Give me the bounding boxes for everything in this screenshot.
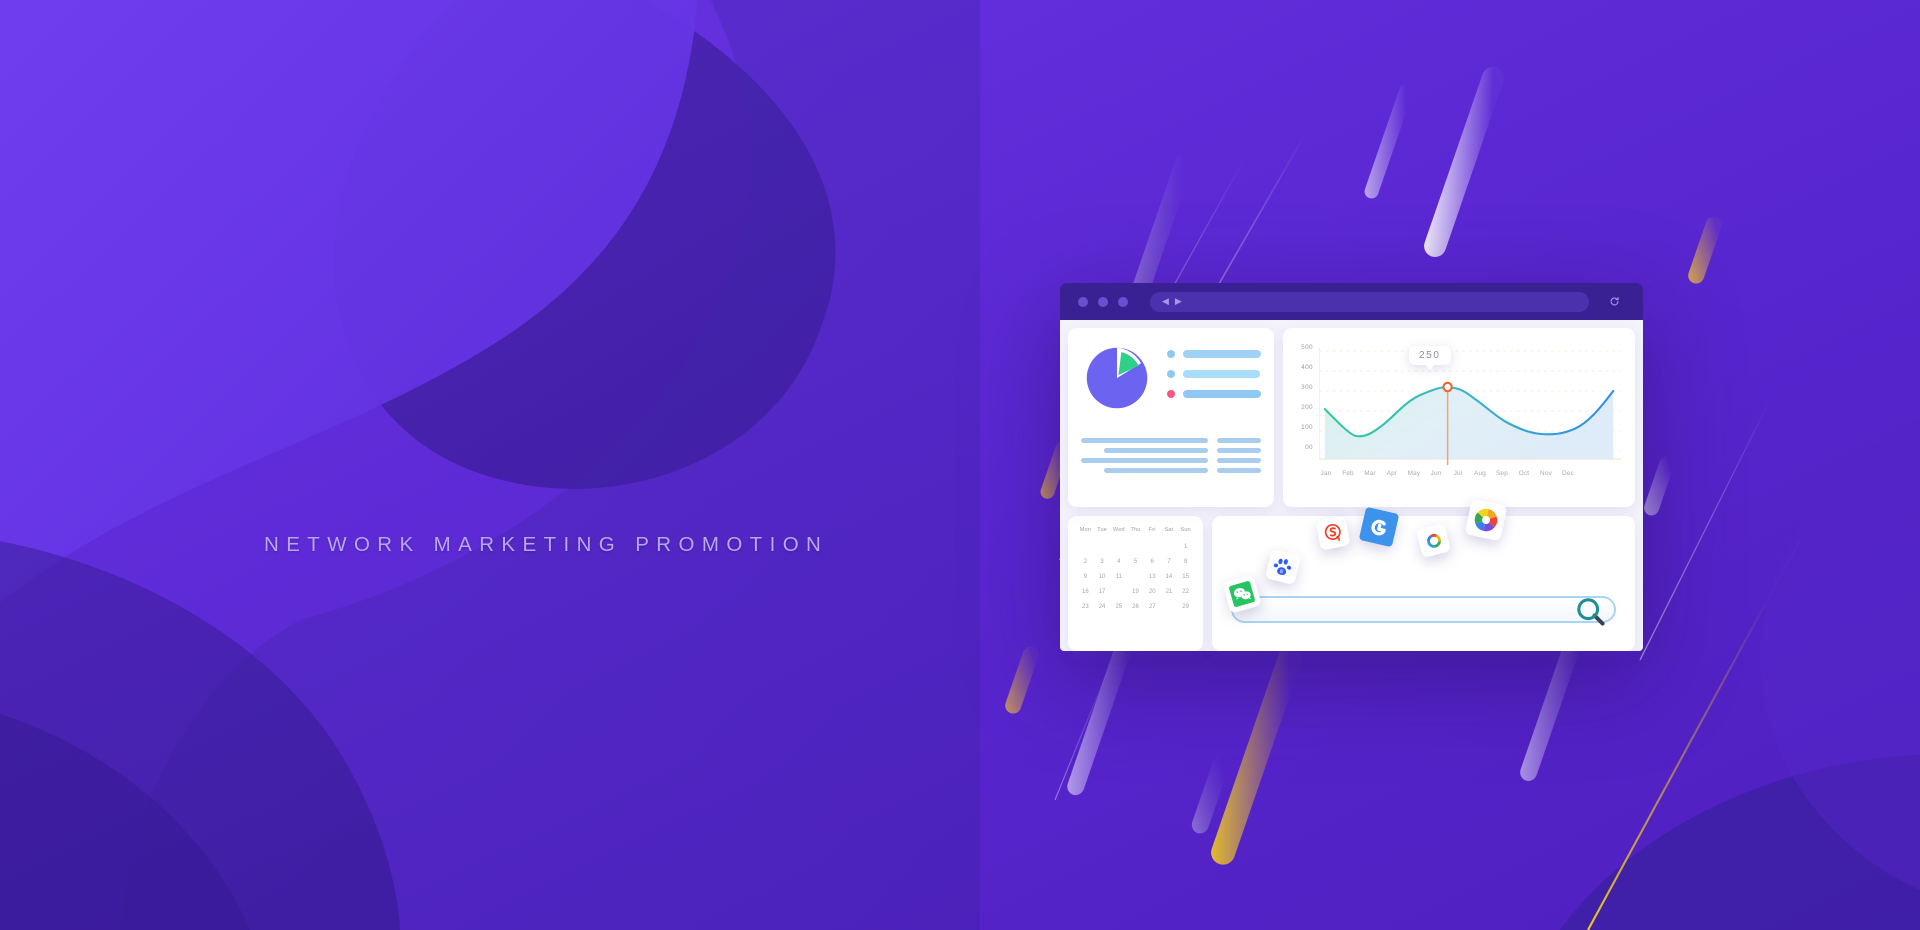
list-item	[1167, 370, 1261, 378]
calendar-day-label: 21	[1166, 589, 1173, 595]
baidu-paw-glyph: 百	[1270, 554, 1295, 579]
pie-chart-icon	[1081, 342, 1153, 414]
calendar-day-label: 4	[1117, 559, 1120, 565]
chart-ytick: 00	[1291, 444, 1313, 451]
calendar-weekday: Sun	[1177, 527, 1194, 537]
calendar-card: Mon Tue Wed Thu Fri Sat Sun 123456789101…	[1068, 516, 1203, 651]
chart-xtick: Jan	[1315, 470, 1337, 477]
reload-icon[interactable]	[1603, 296, 1625, 307]
calendar-day-13[interactable]: 13	[1144, 572, 1161, 582]
minimize-dot-icon[interactable]	[1098, 297, 1108, 307]
calendar-blank	[1161, 542, 1178, 552]
calendar-day-label: 23	[1082, 604, 1089, 610]
calendar-day-29[interactable]: 29	[1177, 602, 1194, 612]
chart-ytick: 400	[1291, 364, 1313, 371]
calendar-day-21[interactable]: 21	[1161, 587, 1178, 597]
calendar-weekday: Sat	[1161, 527, 1178, 537]
calendar-day-24[interactable]: 24	[1094, 602, 1111, 612]
calendar-day-15[interactable]: 15	[1177, 572, 1194, 582]
placeholder-lines-left	[1081, 438, 1208, 473]
calendar-day-label: 27	[1149, 604, 1156, 610]
pie-area	[1081, 342, 1261, 422]
line-chart-card: 500 400 300 200 100 00	[1283, 328, 1635, 507]
wechat-glyph	[1228, 580, 1255, 607]
close-dot-icon[interactable]	[1078, 297, 1088, 307]
calendar-day-label: 20	[1149, 589, 1156, 595]
placeholder-line	[1217, 468, 1261, 473]
calendar-day-label: 11	[1116, 574, 1122, 580]
calendar-day-label: 6	[1151, 559, 1154, 565]
search-magnifier-icon[interactable]	[1572, 593, 1608, 634]
calendar-day-label: 7	[1167, 559, 1170, 565]
calendar-day-1[interactable]: 1	[1177, 542, 1194, 552]
calendar-day-20[interactable]: 20	[1144, 587, 1161, 597]
placeholder-line	[1217, 438, 1261, 443]
placeholder-line	[1217, 448, 1261, 453]
calendar-weekday: Mon	[1077, 527, 1094, 537]
calendar-day-4[interactable]: 4	[1110, 557, 1127, 567]
calendar-weekday: Wed	[1110, 527, 1127, 537]
aperture-glyph	[1468, 502, 1504, 538]
calendar-day-label: 18	[1115, 589, 1122, 595]
chart-xtick: Feb	[1337, 470, 1359, 477]
legend-bar	[1183, 390, 1261, 398]
calendar-day-label: 1	[1184, 544, 1187, 550]
calendar-blank	[1127, 542, 1144, 552]
page-title: NETWORK MARKETING PROMOTION	[264, 533, 828, 557]
dashboard-top-row: 500 400 300 200 100 00	[1068, 328, 1635, 507]
calendar-day-label: 13	[1149, 574, 1156, 580]
legend-dot-icon	[1167, 390, 1175, 398]
calendar-weekday: Tue	[1094, 527, 1111, 537]
search-input[interactable]	[1233, 598, 1614, 621]
chart-ytick: 100	[1291, 424, 1313, 431]
calendar-day-label: 16	[1082, 589, 1089, 595]
search-field[interactable]	[1231, 596, 1616, 623]
maximize-dot-icon[interactable]	[1118, 297, 1128, 307]
calendar-blank	[1110, 542, 1127, 552]
placeholder-text-block	[1081, 438, 1261, 473]
pie-chart-card	[1068, 328, 1274, 507]
chart-xtick: Aug	[1469, 470, 1491, 477]
placeholder-line	[1081, 438, 1208, 443]
calendar-grid[interactable]: Mon Tue Wed Thu Fri Sat Sun 123456789101…	[1077, 527, 1194, 612]
chevron-right-icon[interactable]: ▶	[1175, 297, 1182, 306]
chart-xtick: Jun	[1425, 470, 1447, 477]
calendar-day-label: 28	[1166, 604, 1173, 610]
chart-xtick: Nov	[1535, 470, 1557, 477]
calendar-day-19[interactable]: 19	[1127, 587, 1144, 597]
calendar-day-11[interactable]: 11	[1110, 572, 1127, 582]
calendar-day-23[interactable]: 23	[1077, 602, 1094, 612]
calendar-day-label: 3	[1100, 559, 1103, 565]
chart-xtick: Oct	[1513, 470, 1535, 477]
browser-chrome: ◀ ▶	[1060, 283, 1643, 320]
chart-xtick: Apr	[1381, 470, 1403, 477]
pie-legend	[1167, 342, 1261, 398]
search-card: 百	[1212, 516, 1635, 651]
calendar-day-18[interactable]: 18	[1110, 587, 1127, 597]
chart-xtick: Dec	[1557, 470, 1579, 477]
placeholder-line	[1104, 448, 1208, 453]
calendar-day-label: 29	[1182, 604, 1189, 610]
chart-tooltip: 250	[1409, 346, 1451, 365]
calendar-day-10[interactable]: 10	[1094, 572, 1111, 582]
calendar-day-17[interactable]: 17	[1094, 587, 1111, 597]
calendar-blank	[1094, 542, 1111, 552]
window-controls[interactable]	[1078, 297, 1128, 307]
calendar-day-label: 8	[1184, 559, 1187, 565]
calendar-day-label: 22	[1182, 589, 1189, 595]
calendar-day-6[interactable]: 6	[1144, 557, 1161, 567]
placeholder-lines-right	[1217, 438, 1261, 473]
calendar-day-label: 14	[1166, 574, 1173, 580]
legend-dot-icon	[1167, 350, 1175, 358]
placeholder-line	[1217, 458, 1261, 463]
calendar-day-16[interactable]: 16	[1077, 587, 1094, 597]
calendar-day-12[interactable]: 12	[1127, 572, 1144, 582]
calendar-day-label: 19	[1132, 589, 1139, 595]
chart-ytick: 500	[1291, 344, 1313, 351]
calendar-weekday: Thu	[1127, 527, 1144, 537]
list-item	[1167, 390, 1261, 398]
calendar-day-8[interactable]: 8	[1177, 557, 1194, 567]
calendar-day-22[interactable]: 22	[1177, 587, 1194, 597]
chart-plot-area: 500 400 300 200 100 00	[1291, 340, 1623, 501]
calendar-day-5[interactable]: 5	[1127, 557, 1144, 567]
browser-viewport: 500 400 300 200 100 00	[1060, 320, 1643, 651]
placeholder-line	[1081, 458, 1208, 463]
calendar-day-2[interactable]: 2	[1077, 557, 1094, 567]
calendar-day-9[interactable]: 9	[1077, 572, 1094, 582]
calendar-day-label: 2	[1084, 559, 1087, 565]
dashboard-bottom-row: Mon Tue Wed Thu Fri Sat Sun 123456789101…	[1068, 516, 1635, 651]
calendar-day-7[interactable]: 7	[1161, 557, 1178, 567]
legend-dot-icon	[1167, 370, 1175, 378]
calendar-day-25[interactable]: 25	[1110, 602, 1127, 612]
chart-xtick: Sep	[1491, 470, 1513, 477]
chart-ytick: 300	[1291, 384, 1313, 391]
calendar-day-label: 15	[1182, 574, 1189, 580]
calendar-day-3[interactable]: 3	[1094, 557, 1111, 567]
address-bar[interactable]: ◀ ▶	[1150, 292, 1589, 312]
calendar-day-label: 25	[1115, 604, 1122, 610]
calendar-day-label: 17	[1099, 589, 1106, 595]
list-item	[1167, 350, 1261, 358]
chevron-left-icon[interactable]: ◀	[1162, 297, 1169, 306]
calendar-day-label: 9	[1084, 574, 1087, 580]
chart-xtick: Mar	[1359, 470, 1381, 477]
sogou-icon[interactable]	[1315, 515, 1350, 550]
calendar-day-27[interactable]: 27	[1144, 602, 1161, 612]
calendar-weekday: Fri	[1144, 527, 1161, 537]
chart-ytick: 200	[1291, 404, 1313, 411]
calendar-day-14[interactable]: 14	[1161, 572, 1178, 582]
calendar-day-label: 12	[1132, 574, 1139, 580]
reload-glyph	[1609, 296, 1620, 307]
calendar-blank	[1077, 542, 1094, 552]
calendar-day-26[interactable]: 26	[1127, 602, 1144, 612]
browser-window: ◀ ▶	[1060, 283, 1643, 651]
chart-xtick: May	[1403, 470, 1425, 477]
chart-xtick: Jul	[1447, 470, 1469, 477]
calendar-day-label: 24	[1099, 604, 1106, 610]
calendar-day-label: 26	[1132, 604, 1139, 610]
legend-bar	[1183, 350, 1261, 358]
calendar-day-label: 10	[1099, 574, 1106, 580]
calendar-day-28[interactable]: 28	[1161, 602, 1178, 612]
placeholder-line	[1104, 468, 1208, 473]
calendar-blank	[1144, 542, 1161, 552]
magnifier-glyph	[1572, 593, 1608, 629]
color-ring-glyph	[1420, 527, 1447, 554]
aperture-icon[interactable]	[1465, 499, 1508, 542]
sogou-s-glyph	[1320, 520, 1346, 546]
calendar-day-label: 5	[1134, 559, 1137, 565]
legend-bar	[1183, 370, 1260, 378]
area-chart-svg	[1319, 347, 1621, 465]
